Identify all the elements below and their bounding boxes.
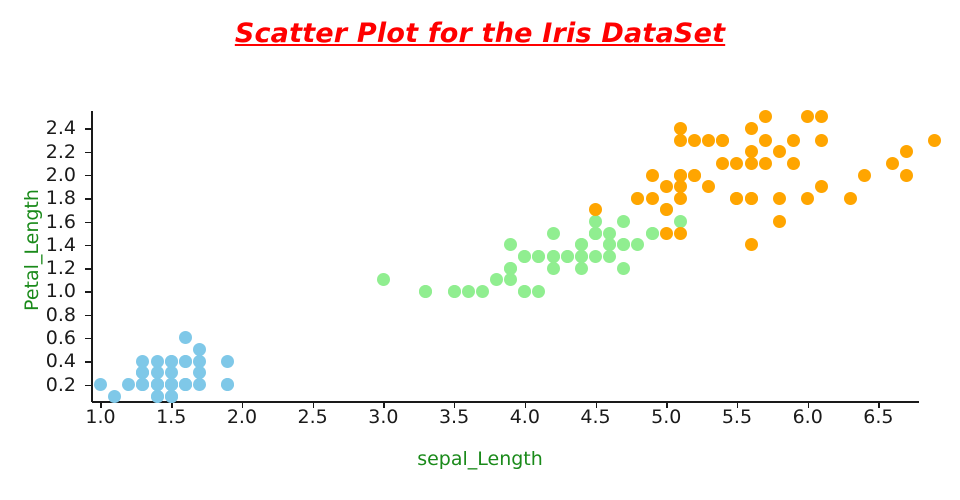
scatter-point — [801, 192, 814, 205]
scatter-point — [136, 378, 149, 391]
scatter-point — [490, 273, 503, 286]
y-tick-label: 1.0 — [46, 280, 76, 302]
y-tick-mark — [85, 152, 91, 153]
scatter-point — [504, 273, 517, 286]
scatter-point — [660, 203, 673, 216]
scatter-point — [745, 122, 758, 135]
scatter-point — [589, 250, 602, 263]
y-tick-label: 1.6 — [46, 211, 76, 233]
scatter-point — [193, 343, 206, 356]
scatter-point — [532, 285, 545, 298]
y-tick-mark — [85, 175, 91, 176]
scatter-point — [730, 157, 743, 170]
scatter-point — [759, 134, 772, 147]
y-axis-label: Petal_Length — [21, 130, 43, 370]
x-tick-label: 1.5 — [156, 406, 186, 428]
scatter-point — [589, 227, 602, 240]
scatter-point — [165, 378, 178, 391]
scatter-point — [631, 192, 644, 205]
y-tick-label: 1.8 — [46, 187, 76, 209]
x-tick-label: 3.0 — [368, 406, 398, 428]
scatter-point — [858, 169, 871, 182]
y-tick-label: 0.8 — [46, 304, 76, 326]
scatter-point — [900, 169, 913, 182]
scatter-point — [476, 285, 489, 298]
y-tick-label: 2.4 — [46, 117, 76, 139]
scatter-point — [787, 157, 800, 170]
y-tick-mark — [85, 268, 91, 269]
scatter-point — [660, 227, 673, 240]
scatter-point — [844, 192, 857, 205]
scatter-point — [688, 134, 701, 147]
scatter-point — [561, 250, 574, 263]
scatter-point — [702, 134, 715, 147]
y-tick-mark — [85, 315, 91, 316]
scatter-point — [716, 157, 729, 170]
scatter-point — [165, 390, 178, 403]
scatter-point — [122, 378, 135, 391]
scatter-point — [787, 134, 800, 147]
scatter-point — [745, 238, 758, 251]
scatter-point — [532, 250, 545, 263]
x-axis-label: sepal_Length — [0, 448, 960, 470]
scatter-point — [745, 157, 758, 170]
scatter-point — [674, 169, 687, 182]
x-tick-label: 5.5 — [722, 406, 752, 428]
scatter-point — [462, 285, 475, 298]
scatter-point — [518, 250, 531, 263]
scatter-point — [646, 192, 659, 205]
scatter-point — [448, 285, 461, 298]
scatter-point — [773, 192, 786, 205]
x-tick-label: 3.5 — [439, 406, 469, 428]
scatter-point — [603, 238, 616, 251]
scatter-point — [928, 134, 941, 147]
scatter-point — [688, 169, 701, 182]
scatter-point — [589, 203, 602, 216]
scatter-point — [547, 227, 560, 240]
scatter-point — [575, 250, 588, 263]
scatter-point — [108, 390, 121, 403]
scatter-point — [575, 262, 588, 275]
scatter-point — [193, 366, 206, 379]
scatter-point — [151, 390, 164, 403]
scatter-point — [179, 331, 192, 344]
scatter-point — [730, 192, 743, 205]
scatter-point — [617, 238, 630, 251]
scatter-point — [151, 355, 164, 368]
scatter-point — [674, 134, 687, 147]
plot-area — [92, 111, 918, 402]
scatter-point — [646, 169, 659, 182]
x-tick-label: 2.5 — [298, 406, 328, 428]
y-tick-label: 0.2 — [46, 374, 76, 396]
scatter-point — [151, 378, 164, 391]
y-tick-label: 1.2 — [46, 257, 76, 279]
scatter-point — [674, 227, 687, 240]
y-tick-label: 0.6 — [46, 327, 76, 349]
scatter-point — [801, 110, 814, 123]
scatter-point — [716, 134, 729, 147]
scatter-point — [773, 215, 786, 228]
scatter-chart: Scatter Plot for the Iris DataSet 1.01.5… — [0, 0, 960, 500]
y-tick-mark — [85, 245, 91, 246]
x-tick-label: 4.0 — [510, 406, 540, 428]
y-tick-mark — [85, 291, 91, 292]
x-tick-label: 1.0 — [85, 406, 115, 428]
scatter-point — [702, 180, 715, 193]
scatter-point — [815, 110, 828, 123]
scatter-point — [745, 145, 758, 158]
y-tick-label: 2.2 — [46, 141, 76, 163]
y-tick-label: 1.4 — [46, 234, 76, 256]
x-tick-label: 6.5 — [863, 406, 893, 428]
scatter-point — [504, 238, 517, 251]
scatter-point — [221, 378, 234, 391]
y-tick-mark — [85, 128, 91, 129]
scatter-point — [547, 250, 560, 263]
y-tick-mark — [85, 222, 91, 223]
scatter-point — [745, 192, 758, 205]
scatter-point — [193, 378, 206, 391]
scatter-point — [221, 355, 234, 368]
y-tick-label: 2.0 — [46, 164, 76, 186]
scatter-point — [660, 180, 673, 193]
scatter-point — [674, 192, 687, 205]
y-tick-mark — [85, 361, 91, 362]
scatter-point — [179, 378, 192, 391]
scatter-point — [886, 157, 899, 170]
scatter-point — [518, 285, 531, 298]
scatter-point — [193, 355, 206, 368]
scatter-point — [674, 122, 687, 135]
x-tick-label: 5.0 — [651, 406, 681, 428]
scatter-point — [815, 134, 828, 147]
scatter-point — [815, 180, 828, 193]
y-tick-mark — [85, 385, 91, 386]
scatter-point — [603, 250, 616, 263]
y-tick-mark — [85, 338, 91, 339]
x-tick-label: 4.5 — [580, 406, 610, 428]
x-tick-label: 2.0 — [227, 406, 257, 428]
scatter-point — [504, 262, 517, 275]
scatter-point — [900, 145, 913, 158]
y-tick-mark — [85, 198, 91, 199]
scatter-point — [617, 262, 630, 275]
scatter-point — [773, 145, 786, 158]
x-tick-label: 6.0 — [793, 406, 823, 428]
scatter-point — [419, 285, 432, 298]
scatter-point — [617, 215, 630, 228]
scatter-point — [646, 227, 659, 240]
y-tick-label: 0.4 — [46, 350, 76, 372]
scatter-point — [547, 262, 560, 275]
chart-title: Scatter Plot for the Iris DataSet — [0, 18, 960, 49]
scatter-point — [165, 355, 178, 368]
scatter-point — [759, 110, 772, 123]
scatter-point — [94, 378, 107, 391]
scatter-point — [759, 157, 772, 170]
scatter-point — [179, 355, 192, 368]
scatter-point — [136, 366, 149, 379]
scatter-point — [631, 238, 644, 251]
scatter-point — [377, 273, 390, 286]
